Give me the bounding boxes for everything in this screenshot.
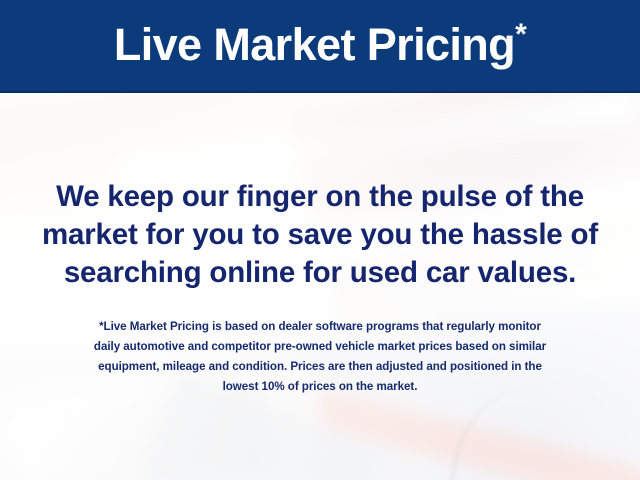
live-market-pricing-banner: Live Market Pricing* We keep our finger …: [0, 0, 640, 480]
page-title: Live Market Pricing*: [114, 22, 526, 71]
disclaimer-line-1: *Live Market Pricing is based on dealer …: [0, 317, 640, 337]
headline-line-3: searching online for used car values.: [0, 254, 640, 292]
title-bar: Live Market Pricing*: [0, 0, 640, 93]
headline: We keep our finger on the pulse of the m…: [0, 178, 640, 292]
disclaimer-line-2: daily automotive and competitor pre-owne…: [0, 337, 640, 357]
headline-line-1: We keep our finger on the pulse of the: [0, 178, 640, 216]
page-title-text: Live Market Pricing: [114, 19, 515, 70]
headline-line-2: market for you to save you the hassle of: [0, 216, 640, 254]
page-title-asterisk: *: [515, 18, 526, 51]
disclaimer-text: *Live Market Pricing is based on dealer …: [0, 317, 640, 397]
disclaimer-line-3: equipment, mileage and condition. Prices…: [0, 357, 640, 377]
disclaimer-line-4: lowest 10% of prices on the market.: [0, 377, 640, 397]
